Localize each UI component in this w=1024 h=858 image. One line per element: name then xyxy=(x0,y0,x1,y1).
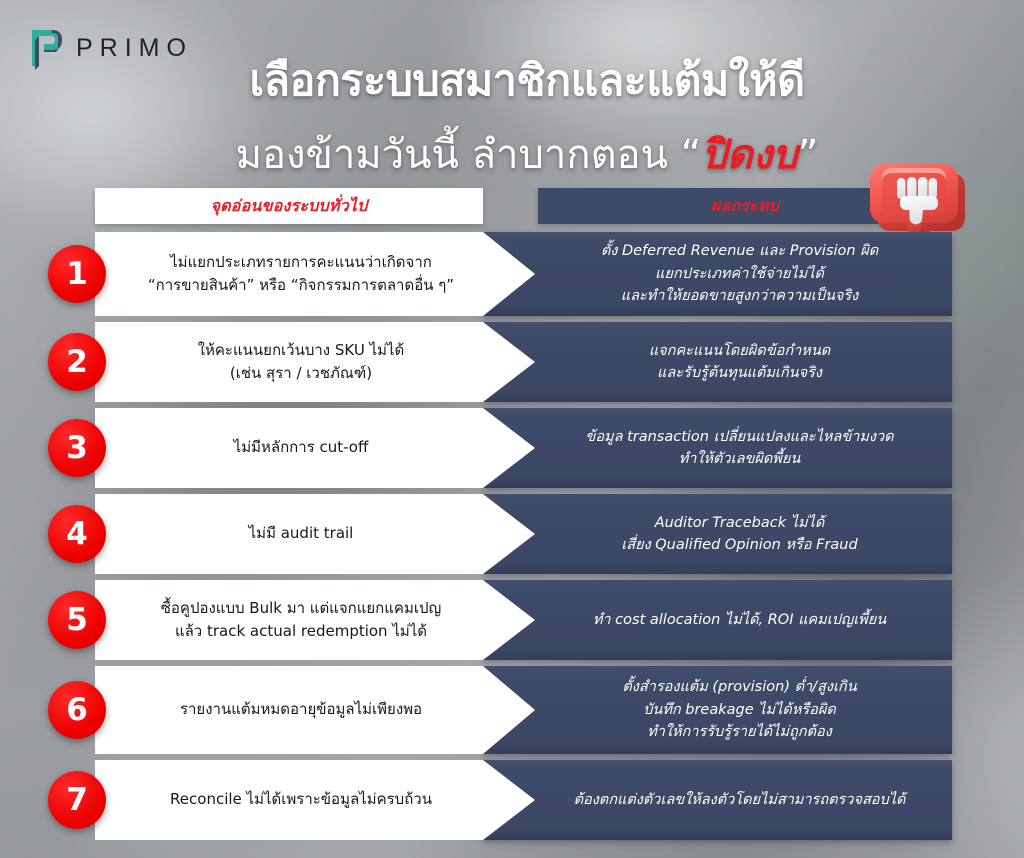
issue-text: รายงานแต้มหมดอายุข้อมูลไม่เพียงพอ xyxy=(180,698,422,721)
impact-panel: ตั้ง Deferred Revenue และ Provision ผิด … xyxy=(483,232,952,316)
infographic-canvas: PRIMO เลือกระบบสมาชิกและแต้มให้ดี มองข้า… xyxy=(0,0,1024,858)
issue-line: “การขายสินค้า” หรือ “กิจกรรมการตลาดอื่น … xyxy=(148,274,454,297)
impact-text: ต้องตกแต่งตัวเลขให้ลงตัวโดยไม่สามารถตรวจ… xyxy=(574,789,906,811)
issue-line: ไม่แยกประเภทรายการคะแนนว่าเกิดจาก xyxy=(148,251,454,274)
column-header-weakness: จุดอ่อนของระบบทั่วไป xyxy=(95,188,483,224)
impact-panel: ข้อมูล transaction เปลี่ยนแปลงและไหลข้าม… xyxy=(483,408,952,488)
impact-text: Auditor Traceback ไม่ได้ เสี่ยง Qualifie… xyxy=(621,512,857,557)
issue-line: ให้คะแนนยกเว้นบาง SKU ไม่ได้ xyxy=(198,339,405,362)
impact-line: และรับรู้ต้นทุนแต้มเกินจริง xyxy=(649,362,830,384)
column-header-weakness-label: จุดอ่อนของระบบทั่วไป xyxy=(211,194,368,219)
impact-text: ข้อมูล transaction เปลี่ยนแปลงและไหลข้าม… xyxy=(585,426,893,471)
impact-line: บันทึก breakage ไม่ได้หรือผิด xyxy=(622,699,856,721)
headline-highlight: ปิดงบ xyxy=(701,132,797,178)
issue-text: ให้คะแนนยกเว้นบาง SKU ไม่ได้ (เช่น สุรา … xyxy=(198,339,405,386)
table-row: แจกคะแนนโดยผิดข้อกำหนด และรับรู้ต้นทุนแต… xyxy=(0,322,1024,402)
issue-panel: ไม่มี audit trail xyxy=(95,494,535,574)
issue-line: Reconcile ไม่ได้เพราะข้อมูลไม่ครบถ้วน xyxy=(170,788,432,811)
issue-text: Reconcile ไม่ได้เพราะข้อมูลไม่ครบถ้วน xyxy=(170,788,432,811)
issue-text: ไม่มี audit trail xyxy=(249,522,354,545)
issue-line: ไม่มีหลักการ cut-off xyxy=(234,436,369,459)
column-header-impact-label: ผลกระทบ xyxy=(711,194,779,219)
table-row: ทำ cost allocation ไม่ได้, ROI แคมเปญเพี… xyxy=(0,580,1024,660)
headline-quote-open: “ xyxy=(681,132,702,178)
issue-panel: รายงานแต้มหมดอายุข้อมูลไม่เพียงพอ xyxy=(95,666,535,754)
issue-panel: ซื้อคูปองแบบ Bulk มา แต่แจกแยกแคมเปญ แล้… xyxy=(95,580,535,660)
impact-line: ทำ cost allocation ไม่ได้, ROI แคมเปญเพี… xyxy=(593,609,886,631)
headline-quote-close: ” xyxy=(798,132,819,178)
impact-line: ตั้ง Deferred Revenue และ Provision ผิด xyxy=(601,240,878,262)
row-number-badge: 6 xyxy=(48,681,106,739)
row-number-badge: 5 xyxy=(48,591,106,649)
column-header-spacer xyxy=(483,188,538,224)
issue-panel: Reconcile ไม่ได้เพราะข้อมูลไม่ครบถ้วน xyxy=(95,760,535,840)
issue-line: ไม่มี audit trail xyxy=(249,522,354,545)
table-row: ตั้งสำรองแต้ม (provision) ต่ำ/สูงเกิน บั… xyxy=(0,666,1024,754)
issue-text: ซื้อคูปองแบบ Bulk มา แต่แจกแยกแคมเปญ แล้… xyxy=(161,597,442,644)
headline-line-2-prefix: มองข้ามวันนี้ ลำบากตอน xyxy=(236,132,681,178)
impact-line: Auditor Traceback ไม่ได้ xyxy=(621,512,857,534)
issue-panel: ไม่มีหลักการ cut-off xyxy=(95,408,535,488)
issue-panel: ไม่แยกประเภทรายการคะแนนว่าเกิดจาก “การขา… xyxy=(95,232,535,316)
issue-line: แล้ว track actual redemption ไม่ได้ xyxy=(161,620,442,643)
impact-panel: แจกคะแนนโดยผิดข้อกำหนด และรับรู้ต้นทุนแต… xyxy=(483,322,952,402)
table-row: ตั้ง Deferred Revenue และ Provision ผิด … xyxy=(0,232,1024,316)
issue-line: (เช่น สุรา / เวชภัณฑ์) xyxy=(198,362,405,385)
issue-text: ไม่มีหลักการ cut-off xyxy=(234,436,369,459)
impact-line: เสี่ยง Qualified Opinion หรือ Fraud xyxy=(621,534,857,556)
row-number-badge: 2 xyxy=(48,333,106,391)
column-header-bar: จุดอ่อนของระบบทั่วไป ผลกระทบ xyxy=(95,188,952,224)
impact-line: ข้อมูล transaction เปลี่ยนแปลงและไหลข้าม… xyxy=(585,426,893,448)
issue-line: รายงานแต้มหมดอายุข้อมูลไม่เพียงพอ xyxy=(180,698,422,721)
impact-panel: ทำ cost allocation ไม่ได้, ROI แคมเปญเพี… xyxy=(483,580,952,660)
issue-impact-rows: ตั้ง Deferred Revenue และ Provision ผิด … xyxy=(0,232,1024,846)
row-number-badge: 4 xyxy=(48,505,106,563)
impact-text: ทำ cost allocation ไม่ได้, ROI แคมเปญเพี… xyxy=(593,609,886,631)
impact-line: และทำให้ยอดขายสูงกว่าความเป็นจริง xyxy=(601,285,878,307)
issue-text: ไม่แยกประเภทรายการคะแนนว่าเกิดจาก “การขา… xyxy=(148,251,454,298)
impact-line: ตั้งสำรองแต้ม (provision) ต่ำ/สูงเกิน xyxy=(622,676,856,698)
table-row: ต้องตกแต่งตัวเลขให้ลงตัวโดยไม่สามารถตรวจ… xyxy=(0,760,1024,840)
impact-panel: Auditor Traceback ไม่ได้ เสี่ยง Qualifie… xyxy=(483,494,952,574)
impact-line: ทำให้การรับรู้รายได้ไม่ถูกต้อง xyxy=(622,721,856,743)
impact-line: ทำให้ตัวเลขผิดพี้ยน xyxy=(585,448,893,470)
headline-line-1: เลือกระบบสมาชิกและแต้มให้ดี xyxy=(30,46,1024,114)
impact-line: ต้องตกแต่งตัวเลขให้ลงตัวโดยไม่สามารถตรวจ… xyxy=(574,789,906,811)
impact-panel: ตั้งสำรองแต้ม (provision) ต่ำ/สูงเกิน บั… xyxy=(483,666,952,754)
table-row: ข้อมูล transaction เปลี่ยนแปลงและไหลข้าม… xyxy=(0,408,1024,488)
row-number-badge: 7 xyxy=(48,771,106,829)
issue-panel: ให้คะแนนยกเว้นบาง SKU ไม่ได้ (เช่น สุรา … xyxy=(95,322,535,402)
row-number-badge: 1 xyxy=(48,245,106,303)
impact-line: แยกประเภทค่าใช้จ่ายไม่ได้ xyxy=(601,263,878,285)
impact-line: แจกคะแนนโดยผิดข้อกำหนด xyxy=(649,340,830,362)
impact-text: ตั้ง Deferred Revenue และ Provision ผิด … xyxy=(601,240,878,307)
impact-text: ตั้งสำรองแต้ม (provision) ต่ำ/สูงเกิน บั… xyxy=(622,676,856,743)
table-row: Auditor Traceback ไม่ได้ เสี่ยง Qualifie… xyxy=(0,494,1024,574)
issue-line: ซื้อคูปองแบบ Bulk มา แต่แจกแยกแคมเปญ xyxy=(161,597,442,620)
impact-panel: ต้องตกแต่งตัวเลขให้ลงตัวโดยไม่สามารถตรวจ… xyxy=(483,760,952,840)
row-number-badge: 3 xyxy=(48,419,106,477)
impact-text: แจกคะแนนโดยผิดข้อกำหนด และรับรู้ต้นทุนแต… xyxy=(649,340,830,385)
